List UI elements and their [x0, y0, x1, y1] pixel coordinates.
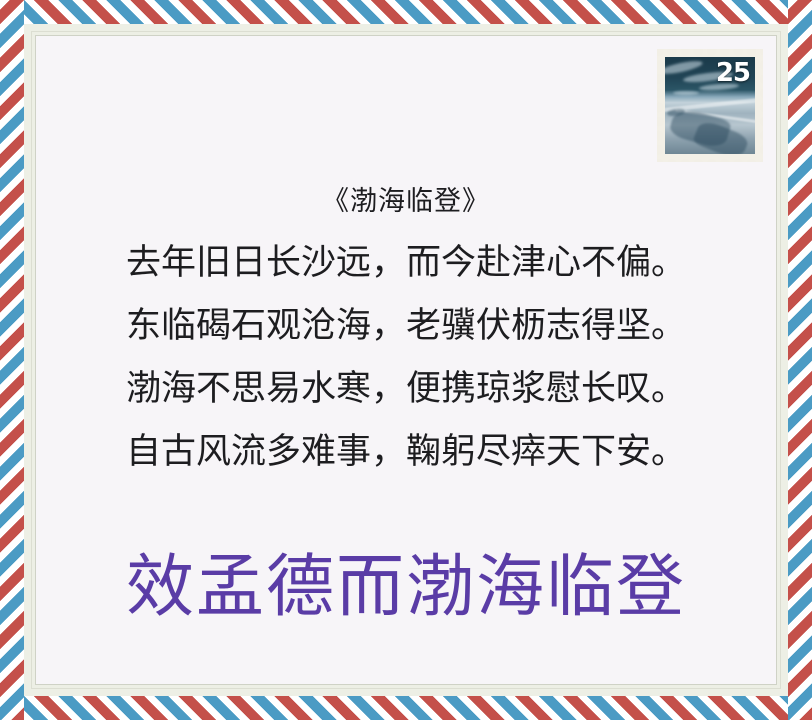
poem-block: 《渤海临登》 去年旧日长沙远，而今赴津心不偏。 东临碣石观沧海，老骥伏枥志得坚。… — [36, 188, 776, 469]
letter-card: 25 《渤海临登》 去年旧日长沙远，而今赴津心不偏。 东临碣石观沧海，老骥伏枥志… — [36, 36, 776, 684]
stamp-cloud-icon — [673, 91, 699, 95]
poem-line: 东临碣石观沧海，老骥伏枥志得坚。 — [36, 308, 776, 343]
frame-outer-rule: 25 《渤海临登》 去年旧日长沙远，而今赴津心不偏。 东临碣石观沧海，老骥伏枥志… — [31, 31, 781, 689]
stamp-artwork-icon: 25 — [665, 57, 755, 154]
frame-inner-rule: 25 《渤海临登》 去年旧日长沙远，而今赴津心不偏。 东临碣石观沧海，老骥伏枥志… — [35, 35, 777, 685]
airmail-stripe-left — [0, 0, 24, 720]
airmail-envelope: 25 《渤海临登》 去年旧日长沙远，而今赴津心不偏。 东临碣石观沧海，老骥伏枥志… — [0, 0, 812, 720]
headline-text: 效孟德而渤海临登 — [36, 554, 776, 622]
airmail-stripe-bottom — [0, 696, 812, 720]
envelope-mat: 25 《渤海临登》 去年旧日长沙远，而今赴津心不偏。 东临碣石观沧海，老骥伏枥志… — [24, 24, 788, 696]
poem-line: 渤海不思易水寒，便携琼浆慰长叹。 — [36, 371, 776, 406]
airmail-stripe-top — [0, 0, 812, 24]
stamp-denomination: 25 — [716, 60, 750, 86]
poem-title: 《渤海临登》 — [36, 188, 776, 215]
postage-stamp[interactable]: 25 — [657, 49, 763, 162]
poem-line: 去年旧日长沙远，而今赴津心不偏。 — [36, 245, 776, 280]
poem-line: 自古风流多难事，鞠躬尽瘁天下安。 — [36, 434, 776, 469]
airmail-stripe-right — [788, 0, 812, 720]
